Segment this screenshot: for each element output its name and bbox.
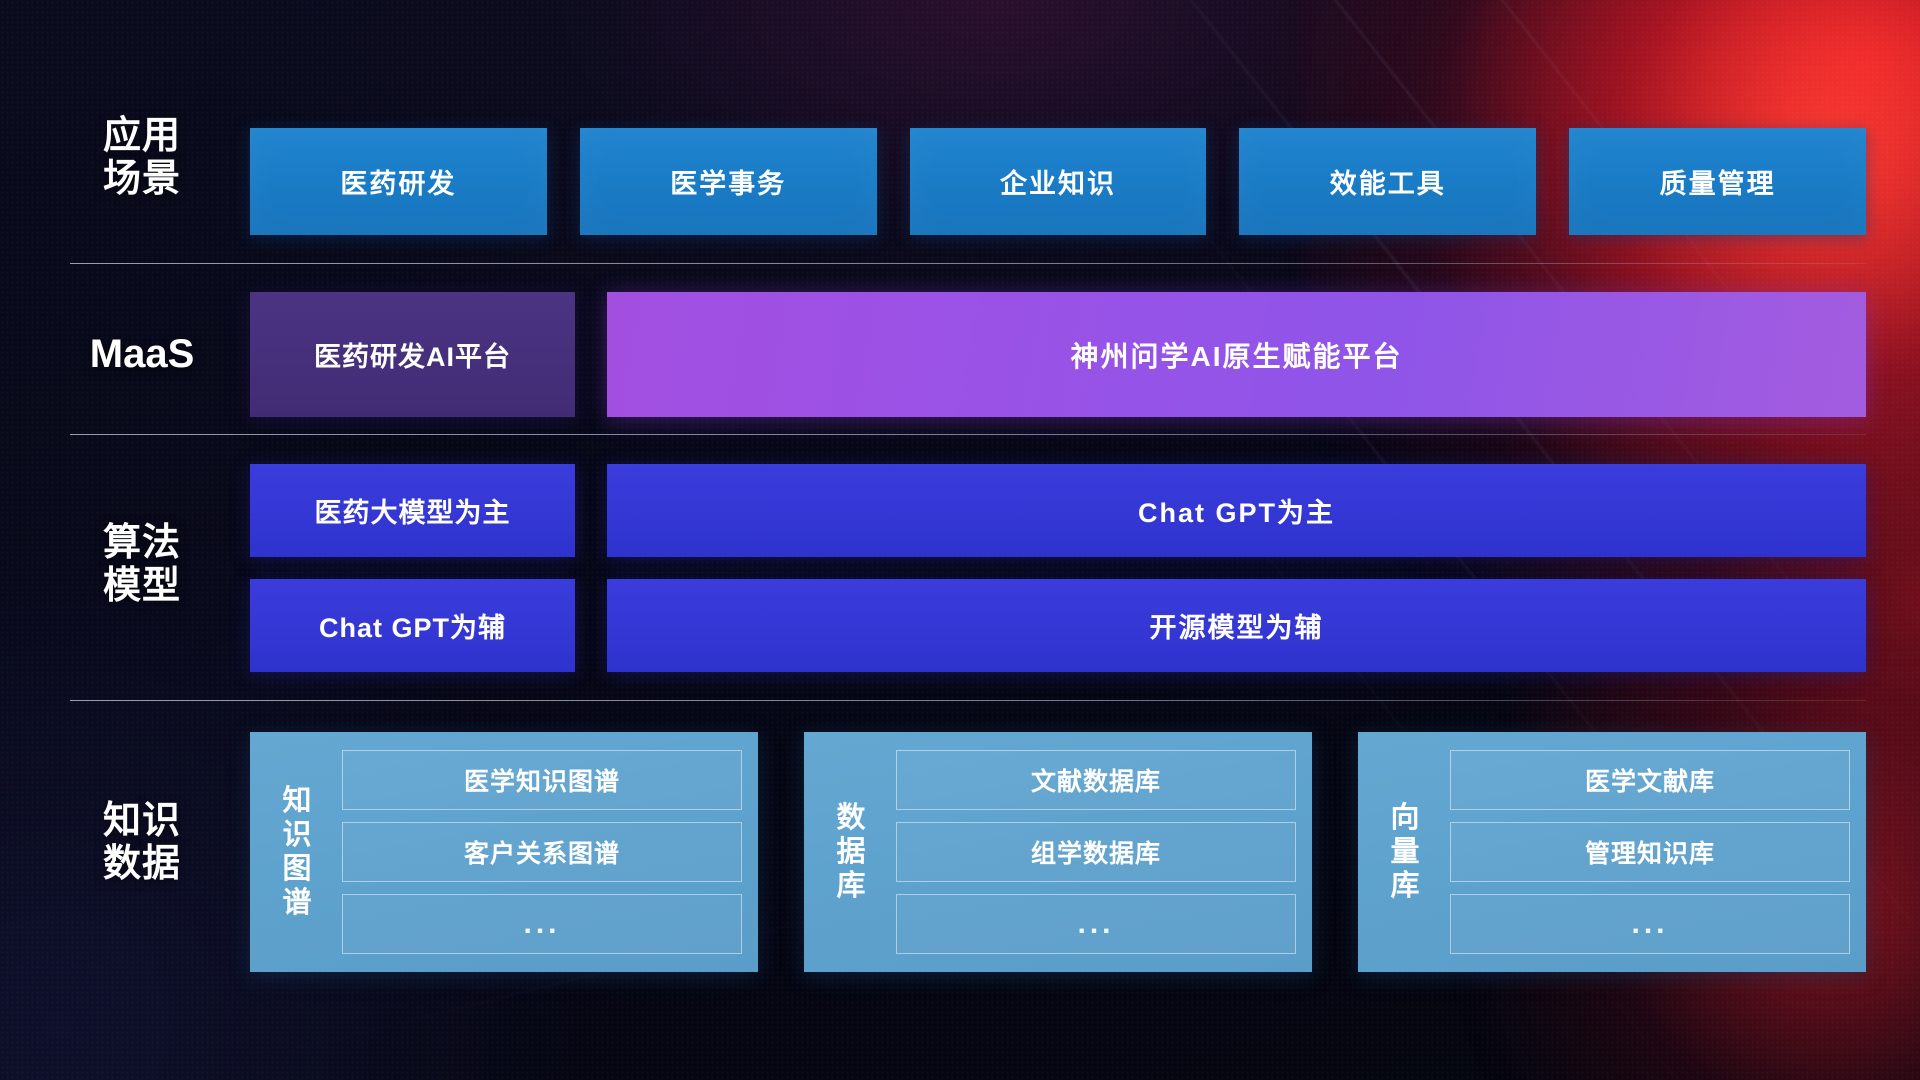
- row-label-application-scenarios: 应用 场景: [72, 115, 212, 202]
- knowledge-panel-items: 医学文献库 管理知识库 ...: [1436, 746, 1850, 958]
- vertical-label-char: 库: [1390, 869, 1419, 903]
- row-label-line: 模型: [72, 565, 212, 608]
- knowledge-item-more[interactable]: ...: [896, 894, 1296, 954]
- knowledge-panel-vector-store: 向 量 库 医学文献库 管理知识库 ...: [1358, 732, 1866, 972]
- knowledge-item-more[interactable]: ...: [1450, 894, 1850, 954]
- algorithm-model-box[interactable]: Chat GPT为辅: [250, 579, 575, 672]
- algorithm-models-line: 医药大模型为主 Chat GPT为主: [250, 464, 1866, 557]
- row-divider: [70, 263, 1866, 264]
- knowledge-item[interactable]: 文献数据库: [896, 750, 1296, 810]
- knowledge-panel-vertical-label: 知 识 图 谱: [266, 746, 328, 958]
- architecture-diagram: 应用 场景 医药研发 医学事务 企业知识 效能工具 质量管理 MaaS 医药研发…: [0, 0, 1920, 1080]
- knowledge-panel-vertical-label: 数 据 库: [820, 746, 882, 958]
- maas-row: 医药研发AI平台 神州问学AI原生赋能平台: [250, 292, 1866, 417]
- vertical-label-char: 知: [282, 784, 311, 818]
- algorithm-model-box[interactable]: 开源模型为辅: [607, 579, 1866, 672]
- algorithm-model-box[interactable]: 医药大模型为主: [250, 464, 575, 557]
- vertical-label-char: 量: [1390, 835, 1419, 869]
- row-label-line: 应用: [72, 115, 212, 158]
- row-label-line: 数据: [72, 843, 212, 886]
- knowledge-item[interactable]: 组学数据库: [896, 822, 1296, 882]
- app-scenario-box[interactable]: 质量管理: [1569, 128, 1866, 235]
- vertical-label-char: 图: [282, 852, 311, 886]
- algorithm-model-box[interactable]: Chat GPT为主: [607, 464, 1866, 557]
- algorithm-models-line: Chat GPT为辅 开源模型为辅: [250, 579, 1866, 672]
- vertical-label-char: 谱: [282, 886, 311, 920]
- row-divider: [70, 700, 1866, 701]
- vertical-label-char: 据: [836, 835, 865, 869]
- maas-platform-box[interactable]: 医药研发AI平台: [250, 292, 575, 417]
- knowledge-panel-database: 数 据 库 文献数据库 组学数据库 ...: [804, 732, 1312, 972]
- app-scenario-box[interactable]: 医药研发: [250, 128, 547, 235]
- knowledge-panel-knowledge-graph: 知 识 图 谱 医学知识图谱 客户关系图谱 ...: [250, 732, 758, 972]
- vertical-label-char: 库: [836, 869, 865, 903]
- knowledge-item[interactable]: 客户关系图谱: [342, 822, 742, 882]
- row-divider: [70, 434, 1866, 435]
- row-label-line: 场景: [72, 158, 212, 201]
- knowledge-panel-items: 医学知识图谱 客户关系图谱 ...: [328, 746, 742, 958]
- knowledge-item[interactable]: 管理知识库: [1450, 822, 1850, 882]
- row-label-knowledge-data: 知识 数据: [72, 800, 212, 887]
- row-label-maas: MaaS: [72, 332, 212, 378]
- row-label-line: 知识: [72, 800, 212, 843]
- row-label-algorithm-models: 算法 模型: [72, 522, 212, 609]
- row-label-line: 算法: [72, 522, 212, 565]
- vertical-label-char: 向: [1390, 801, 1419, 835]
- application-scenarios-row: 医药研发 医学事务 企业知识 效能工具 质量管理: [250, 128, 1866, 235]
- knowledge-item[interactable]: 医学知识图谱: [342, 750, 742, 810]
- knowledge-item[interactable]: 医学文献库: [1450, 750, 1850, 810]
- app-scenario-box[interactable]: 企业知识: [910, 128, 1207, 235]
- app-scenario-box[interactable]: 医学事务: [580, 128, 877, 235]
- maas-enablement-platform-box[interactable]: 神州问学AI原生赋能平台: [607, 292, 1866, 417]
- app-scenario-box[interactable]: 效能工具: [1239, 128, 1536, 235]
- algorithm-models-row: 医药大模型为主 Chat GPT为主 Chat GPT为辅 开源模型为辅: [250, 464, 1866, 672]
- knowledge-panel-vertical-label: 向 量 库: [1374, 746, 1436, 958]
- knowledge-data-row: 知 识 图 谱 医学知识图谱 客户关系图谱 ... 数 据 库: [250, 732, 1866, 972]
- vertical-label-char: 识: [282, 818, 311, 852]
- knowledge-panel-items: 文献数据库 组学数据库 ...: [882, 746, 1296, 958]
- vertical-label-char: 数: [836, 801, 865, 835]
- knowledge-item-more[interactable]: ...: [342, 894, 742, 954]
